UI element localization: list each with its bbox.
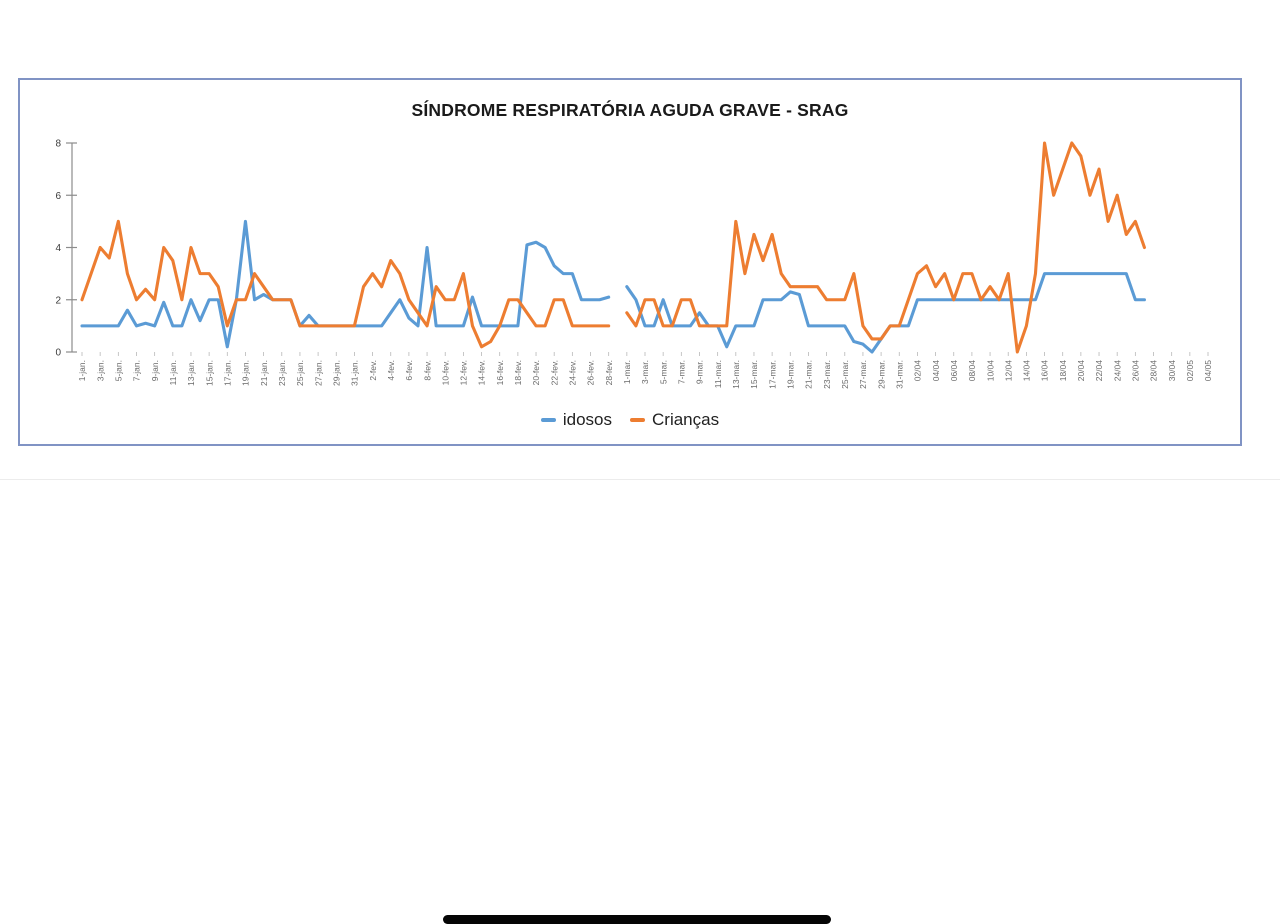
svg-text:14-fev.: 14-fev. [477,360,487,385]
legend-item-idosos[interactable]: idosos [541,410,612,430]
svg-text:8: 8 [55,139,61,150]
svg-text:17-mar.: 17-mar. [767,360,777,389]
svg-text:30/04: 30/04 [1167,360,1177,382]
svg-text:04/04: 04/04 [931,360,941,382]
svg-text:12-fev.: 12-fev. [459,360,469,385]
svg-text:9-mar.: 9-mar. [695,360,705,384]
svg-text:27-mar.: 27-mar. [858,360,868,389]
svg-text:5-mar.: 5-mar. [658,360,668,384]
svg-text:08/04: 08/04 [967,360,977,382]
chart-plot-area: 024681-jan.3-jan.5-jan.7-jan.9-jan.11-ja… [20,80,1240,444]
svg-text:28/04: 28/04 [1149,360,1159,382]
svg-text:20/04: 20/04 [1076,360,1086,382]
svg-text:31-jan.: 31-jan. [350,360,360,386]
svg-text:17-jan.: 17-jan. [222,360,232,386]
svg-text:13-mar.: 13-mar. [731,360,741,389]
svg-text:3-mar.: 3-mar. [640,360,650,384]
svg-text:29-jan.: 29-jan. [331,360,341,386]
svg-text:23-mar.: 23-mar. [822,360,832,389]
svg-text:25-jan.: 25-jan. [295,360,305,386]
svg-text:1-mar.: 1-mar. [622,360,632,384]
legend-label-idosos: idosos [563,410,612,430]
svg-text:2-fev.: 2-fev. [368,360,378,381]
legend-swatch-idosos [541,418,556,422]
svg-text:4: 4 [55,243,61,254]
svg-text:25-mar.: 25-mar. [840,360,850,389]
svg-text:4-fev.: 4-fev. [386,360,396,381]
svg-text:23-jan.: 23-jan. [277,360,287,386]
svg-text:02/05: 02/05 [1185,360,1195,382]
svg-text:20-fev.: 20-fev. [531,360,541,385]
svg-text:22/04: 22/04 [1094,360,1104,382]
svg-text:18/04: 18/04 [1058,360,1068,382]
svg-text:14/04: 14/04 [1022,360,1032,382]
svg-text:0: 0 [55,348,61,359]
svg-text:6-fev.: 6-fev. [404,360,414,381]
svg-text:7-mar.: 7-mar. [677,360,687,384]
legend-swatch-criancas [630,418,645,422]
svg-text:27-jan.: 27-jan. [313,360,323,386]
svg-text:11-mar.: 11-mar. [713,360,723,388]
svg-text:26/04: 26/04 [1131,360,1141,382]
svg-text:29-mar.: 29-mar. [876,360,886,389]
svg-text:8-fev.: 8-fev. [422,360,432,381]
svg-text:3-jan.: 3-jan. [95,360,105,381]
svg-text:24-fev.: 24-fev. [568,360,578,385]
svg-text:18-fev.: 18-fev. [513,360,523,385]
svg-text:04/05: 04/05 [1203,360,1213,382]
svg-text:26-fev.: 26-fev. [586,360,596,385]
svg-text:9-jan.: 9-jan. [150,360,160,381]
svg-text:19-mar.: 19-mar. [785,360,795,389]
svg-text:02/04: 02/04 [913,360,923,382]
svg-text:2: 2 [55,295,61,306]
legend-item-criancas[interactable]: Crianças [630,410,719,430]
svg-text:13-jan.: 13-jan. [186,360,196,386]
svg-text:19-jan.: 19-jan. [241,360,251,386]
svg-text:10/04: 10/04 [985,360,995,382]
svg-text:5-jan.: 5-jan. [114,360,124,381]
svg-text:21-mar.: 21-mar. [804,360,814,389]
scrollbar-thumb[interactable] [443,915,831,924]
svg-text:6: 6 [55,191,61,202]
svg-text:15-jan.: 15-jan. [204,360,214,386]
svg-text:21-jan.: 21-jan. [259,360,269,386]
svg-text:24/04: 24/04 [1112,360,1122,382]
chart-container: SÍNDROME RESPIRATÓRIA AGUDA GRAVE - SRAG… [18,78,1242,446]
svg-text:15-mar.: 15-mar. [749,360,759,389]
svg-text:31-mar.: 31-mar. [894,360,904,389]
svg-text:7-jan.: 7-jan. [132,360,142,381]
svg-text:06/04: 06/04 [949,360,959,382]
svg-text:10-fev.: 10-fev. [440,360,450,385]
svg-text:16-fev.: 16-fev. [495,360,505,385]
bottom-divider [0,479,1280,480]
horizontal-scrollbar[interactable] [0,455,1280,475]
svg-text:12/04: 12/04 [1003,360,1013,382]
legend-label-criancas: Crianças [652,410,719,430]
svg-text:28-fev.: 28-fev. [604,360,614,385]
chart-legend: idosos Crianças [20,410,1240,430]
svg-text:1-jan.: 1-jan. [77,360,87,381]
svg-text:22-fev.: 22-fev. [549,360,559,385]
svg-text:11-jan.: 11-jan. [168,360,178,385]
svg-text:16/04: 16/04 [1040,360,1050,382]
